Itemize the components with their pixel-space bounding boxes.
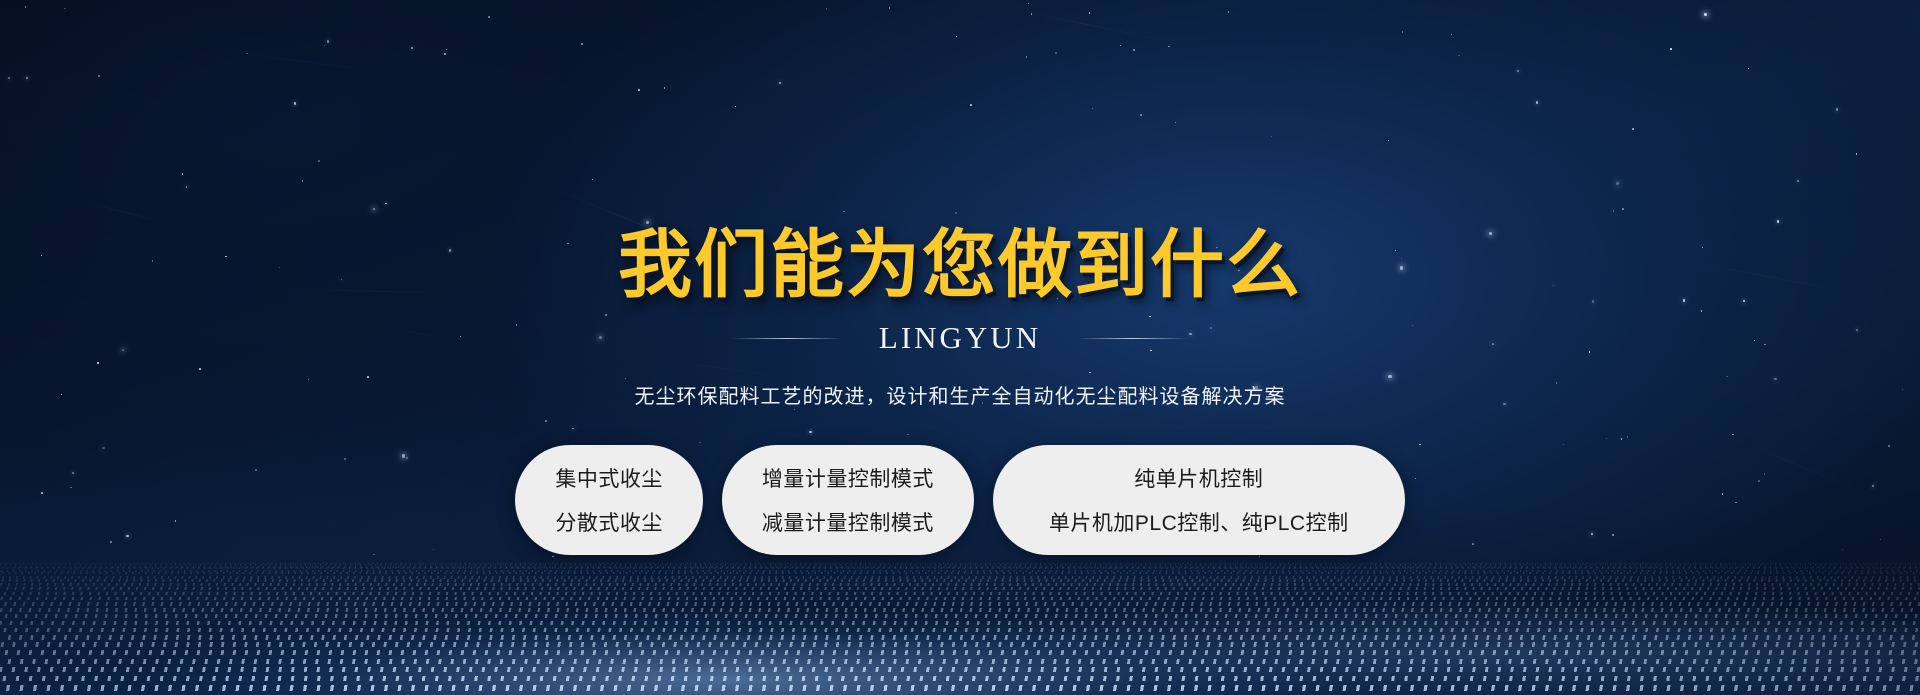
star-particle bbox=[411, 47, 413, 49]
star-particle bbox=[1536, 101, 1538, 103]
wave-row bbox=[0, 592, 1920, 595]
star-particle bbox=[64, 8, 66, 10]
divider-left bbox=[731, 338, 843, 339]
star-particle bbox=[955, 212, 957, 214]
hero-banner: 我们能为您做到什么 LINGYUN 无尘环保配料工艺的改进，设计和生产全自动化无… bbox=[0, 0, 1920, 695]
card-line-primary: 纯单片机控制 bbox=[1049, 463, 1349, 493]
star-particle bbox=[826, 8, 828, 10]
star-particle bbox=[1517, 70, 1519, 72]
star-particle bbox=[1168, 46, 1170, 48]
wave-row bbox=[0, 583, 1920, 586]
wave-row bbox=[0, 576, 1920, 579]
star-particle bbox=[1704, 13, 1707, 16]
star-particle bbox=[1175, 122, 1177, 124]
card-line-primary: 集中式收尘 bbox=[555, 463, 663, 493]
star-particle bbox=[779, 82, 781, 84]
wave-row bbox=[0, 642, 1920, 647]
wave-row bbox=[0, 566, 1920, 568]
star-particle bbox=[889, 7, 891, 9]
wave-row bbox=[0, 570, 1920, 572]
banner-headline: 我们能为您做到什么 bbox=[0, 228, 1920, 302]
card-line-primary: 增量计量控制模式 bbox=[762, 463, 934, 493]
star-particle bbox=[1388, 140, 1390, 142]
wave-row bbox=[0, 614, 1920, 618]
star-particle bbox=[294, 102, 296, 104]
wave-row bbox=[0, 635, 1920, 640]
star-particle bbox=[1228, 11, 1230, 13]
wave-row bbox=[0, 579, 1920, 582]
light-streak bbox=[848, 21, 964, 57]
star-particle bbox=[324, 45, 326, 47]
wave-row bbox=[0, 628, 1920, 632]
star-particle bbox=[327, 40, 329, 42]
star-particle bbox=[26, 77, 28, 79]
banner-tagline: 无尘环保配料工艺的改进，设计和生产全自动化无尘配料设备解决方案 bbox=[0, 380, 1920, 409]
star-particle bbox=[373, 208, 375, 210]
wave-row bbox=[0, 685, 1920, 691]
star-particle bbox=[1777, 220, 1779, 222]
star-particle bbox=[1089, 12, 1091, 14]
star-particle bbox=[581, 43, 583, 45]
star-particle bbox=[1092, 108, 1094, 110]
star-particle bbox=[1402, 31, 1404, 33]
star-particle bbox=[1836, 108, 1838, 110]
star-particle bbox=[98, 75, 100, 77]
star-particle bbox=[1670, 48, 1672, 50]
feature-card-control-system[interactable]: 纯单片机控制 单片机加PLC控制、纯PLC控制 bbox=[993, 445, 1405, 555]
feature-card-dust-collection[interactable]: 集中式收尘 分散式收尘 bbox=[515, 445, 703, 555]
star-particle bbox=[1632, 128, 1634, 130]
light-streak bbox=[1013, 9, 1180, 44]
star-particle bbox=[444, 53, 446, 55]
brand-row: LINGYUN bbox=[0, 320, 1920, 356]
wave-row bbox=[0, 572, 1920, 574]
wave-row bbox=[0, 676, 1920, 681]
star-particle bbox=[638, 89, 640, 91]
star-particle bbox=[1031, 13, 1033, 15]
star-particle bbox=[552, 556, 554, 558]
star-particle bbox=[186, 186, 188, 188]
wave-row bbox=[0, 667, 1920, 672]
star-particle bbox=[385, 203, 387, 205]
star-particle bbox=[970, 104, 972, 106]
wave-row bbox=[0, 563, 1920, 564]
star-particle bbox=[1140, 114, 1142, 116]
star-particle bbox=[1856, 153, 1858, 155]
star-particle bbox=[1616, 182, 1619, 185]
star-particle bbox=[1622, 208, 1624, 210]
wave-row bbox=[0, 659, 1920, 664]
star-particle bbox=[735, 106, 737, 108]
star-particle bbox=[1797, 180, 1799, 182]
star-particle bbox=[1133, 49, 1135, 51]
star-particle bbox=[318, 160, 320, 162]
star-particle bbox=[1259, 556, 1261, 558]
star-particle bbox=[1271, 136, 1273, 138]
star-particle bbox=[1458, 55, 1460, 57]
light-streak bbox=[202, 48, 413, 76]
card-line-secondary: 减量计量控制模式 bbox=[762, 507, 934, 537]
feature-card-list: 集中式收尘 分散式收尘 增量计量控制模式 减量计量控制模式 纯单片机控制 单片机… bbox=[0, 445, 1920, 555]
star-particle bbox=[1120, 45, 1122, 47]
card-line-secondary: 分散式收尘 bbox=[555, 507, 663, 537]
wave-row bbox=[0, 621, 1920, 625]
star-particle bbox=[664, 87, 666, 89]
light-streak bbox=[83, 201, 180, 227]
star-particle bbox=[488, 16, 490, 18]
wave-row bbox=[0, 650, 1920, 655]
star-particle bbox=[843, 211, 845, 213]
wave-row bbox=[0, 587, 1920, 590]
wave-row bbox=[0, 564, 1920, 566]
star-particle bbox=[1451, 34, 1453, 36]
banner-content: 我们能为您做到什么 LINGYUN 无尘环保配料工艺的改进，设计和生产全自动化无… bbox=[0, 228, 1920, 555]
star-particle bbox=[25, 6, 27, 8]
star-particle bbox=[182, 173, 184, 175]
feature-card-metering-mode[interactable]: 增量计量控制模式 减量计量控制模式 bbox=[722, 445, 974, 555]
star-particle bbox=[446, 49, 448, 51]
star-particle bbox=[592, 179, 594, 181]
wave-row bbox=[0, 608, 1920, 612]
brand-name: LINGYUN bbox=[879, 320, 1041, 356]
wave-row bbox=[0, 563, 1920, 564]
star-particle bbox=[302, 180, 304, 182]
wave-row bbox=[0, 602, 1920, 606]
star-particle bbox=[1055, 52, 1057, 54]
card-line-secondary: 单片机加PLC控制、纯PLC控制 bbox=[1049, 507, 1349, 537]
star-particle bbox=[246, 53, 248, 55]
star-particle bbox=[1748, 68, 1750, 70]
divider-right bbox=[1077, 338, 1189, 339]
wave-row bbox=[0, 597, 1920, 600]
star-particle bbox=[1028, 3, 1030, 5]
star-particle bbox=[8, 77, 10, 79]
star-particle bbox=[1613, 210, 1615, 212]
wave-row bbox=[0, 567, 1920, 569]
star-particle bbox=[956, 36, 958, 38]
star-particle bbox=[1026, 56, 1028, 58]
